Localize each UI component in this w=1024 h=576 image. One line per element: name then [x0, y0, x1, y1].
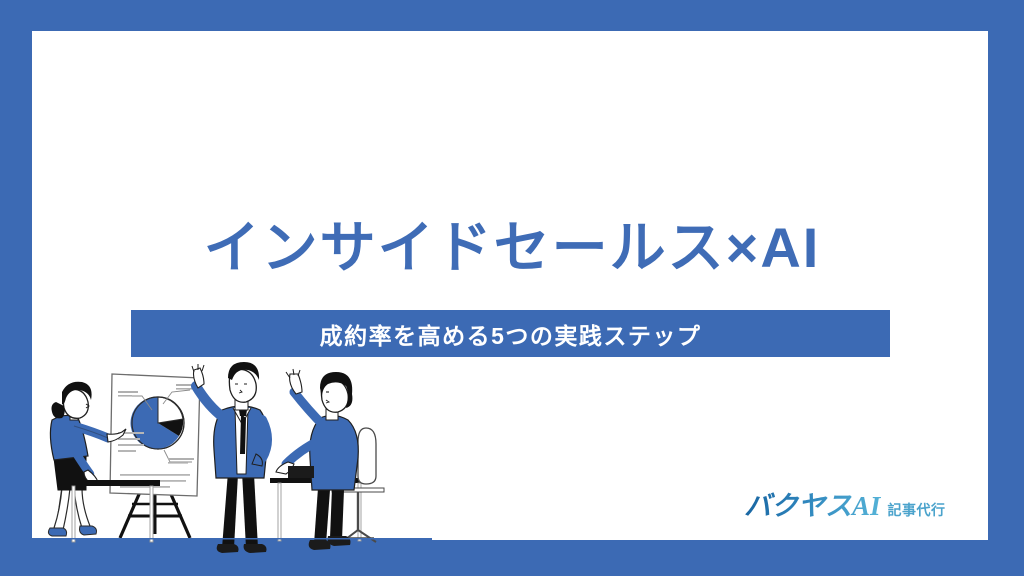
brand-logo: バクヤスAI 記事代行: [744, 484, 946, 523]
seated-person-figure: [276, 369, 384, 550]
chair-back: [358, 428, 376, 484]
page-title: インサイドセールス×AI: [0, 208, 1024, 288]
brand-logo-tagline: 記事代行: [888, 500, 946, 520]
subtitle-text: 成約率を高める5つの実践ステップ: [320, 317, 702, 351]
easel-with-poster: [110, 374, 200, 538]
business-team-presentation-illustration: [32, 362, 432, 576]
poster-pie-chart: [131, 397, 184, 449]
hair-bun: [52, 402, 65, 418]
brand-logo-name: バクヤスAI: [744, 484, 881, 523]
man-in-suit-figure: [192, 362, 268, 553]
slide-canvas: インサイドセールス×AI 成約率を高める5つの実践ステップ バクヤスAI 記事代…: [0, 0, 1024, 576]
subtitle-bar: 成約率を高める5つの実践ステップ: [131, 310, 890, 357]
